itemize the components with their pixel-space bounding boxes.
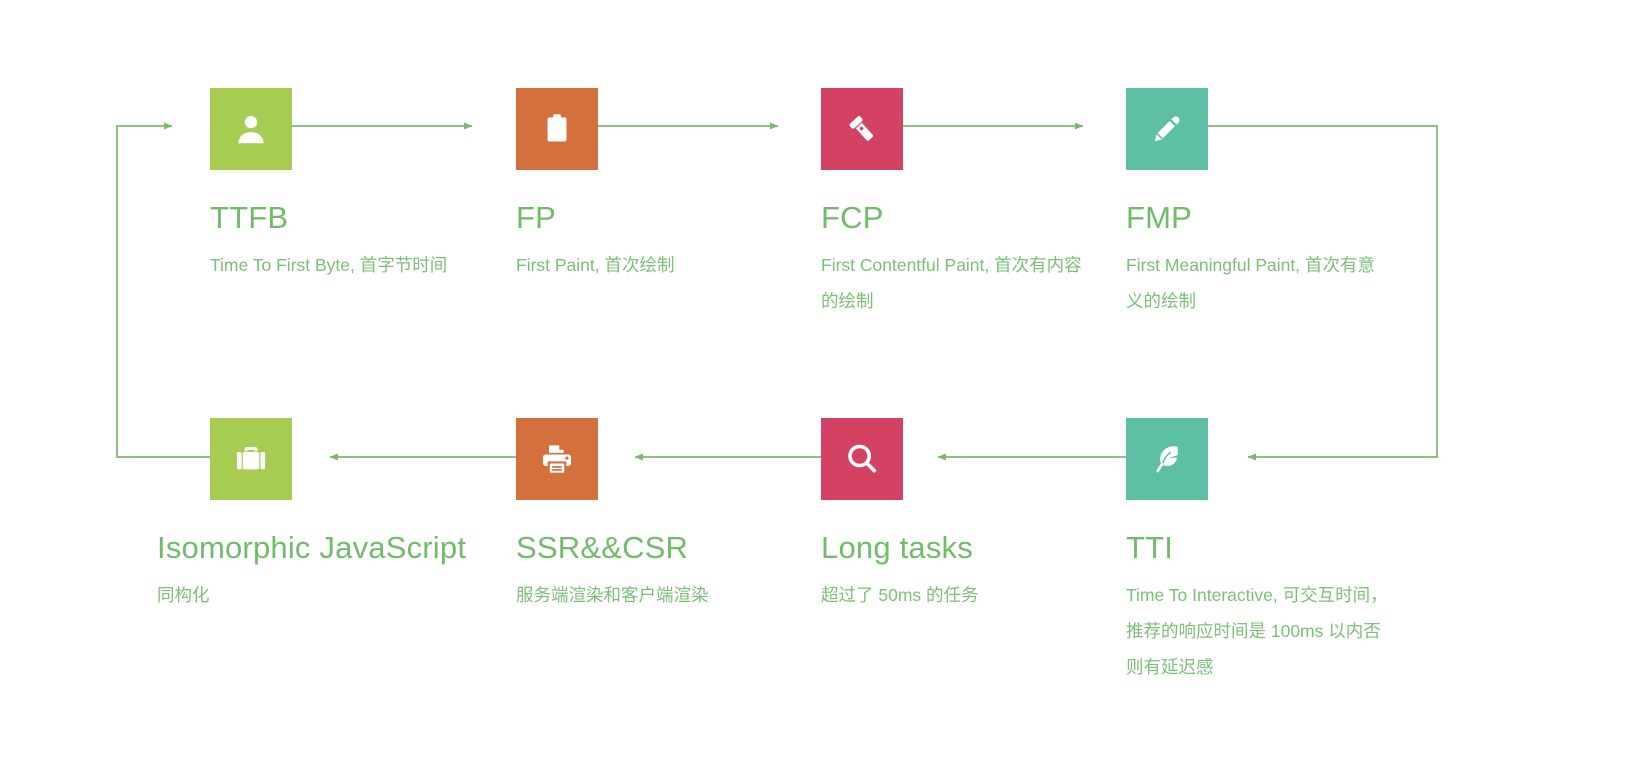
node-fmp[interactable]: FMP First Meaningful Paint, 首次有意义的绘制 [1126, 88, 1426, 319]
flow-diagram: TTFB Time To First Byte, 首字节时间 FP First … [0, 0, 1644, 768]
tile-long-tasks[interactable] [821, 418, 903, 500]
node-description: 同构化 [157, 577, 415, 613]
node-description: Time To Interactive, 可交互时间，推荐的响应时间是 100m… [1126, 577, 1388, 685]
tile-tti[interactable] [1126, 418, 1208, 500]
printer-icon [540, 442, 574, 476]
node-description: 超过了 50ms 的任务 [821, 577, 1079, 613]
tile-fcp[interactable] [821, 88, 903, 170]
node-description: First Paint, 首次绘制 [516, 247, 774, 283]
node-description: First Meaningful Paint, 首次有意义的绘制 [1126, 247, 1388, 319]
tile-fmp[interactable] [1126, 88, 1208, 170]
briefcase-icon [233, 441, 269, 477]
node-title: TTI [1126, 532, 1426, 563]
node-title: TTFB [210, 202, 510, 233]
node-title: FP [516, 202, 816, 233]
node-description: First Contentful Paint, 首次有内容的绘制 [821, 247, 1096, 319]
node-title: Long tasks [821, 532, 1121, 563]
tile-ssr-csr[interactable] [516, 418, 598, 500]
node-long-tasks[interactable]: Long tasks 超过了 50ms 的任务 [821, 418, 1121, 613]
magnifier-icon [844, 441, 880, 477]
node-description: 服务端渲染和客户端渲染 [516, 577, 774, 613]
feather-icon [1150, 442, 1184, 476]
node-fp[interactable]: FP First Paint, 首次绘制 [516, 88, 816, 283]
node-description: Time To First Byte, 首字节时间 [210, 247, 468, 283]
tile-fp[interactable] [516, 88, 598, 170]
pencil-icon [1150, 112, 1184, 146]
flashlight-icon [844, 111, 880, 147]
node-ssr-csr[interactable]: SSR&&CSR 服务端渲染和客户端渲染 [516, 418, 816, 613]
clipboard-icon [540, 112, 574, 146]
node-title: FMP [1126, 202, 1426, 233]
tile-isomorphic-javascript[interactable] [210, 418, 292, 500]
node-title: SSR&&CSR [516, 532, 816, 563]
node-tti[interactable]: TTI Time To Interactive, 可交互时间，推荐的响应时间是 … [1126, 418, 1426, 685]
user-icon [233, 111, 269, 147]
node-title: FCP [821, 202, 1121, 233]
node-isomorphic-javascript[interactable]: Isomorphic JavaScript 同构化 [210, 418, 510, 613]
node-fcp[interactable]: FCP First Contentful Paint, 首次有内容的绘制 [821, 88, 1121, 319]
tile-ttfb[interactable] [210, 88, 292, 170]
node-ttfb[interactable]: TTFB Time To First Byte, 首字节时间 [210, 88, 510, 283]
node-title: Isomorphic JavaScript [157, 532, 510, 563]
